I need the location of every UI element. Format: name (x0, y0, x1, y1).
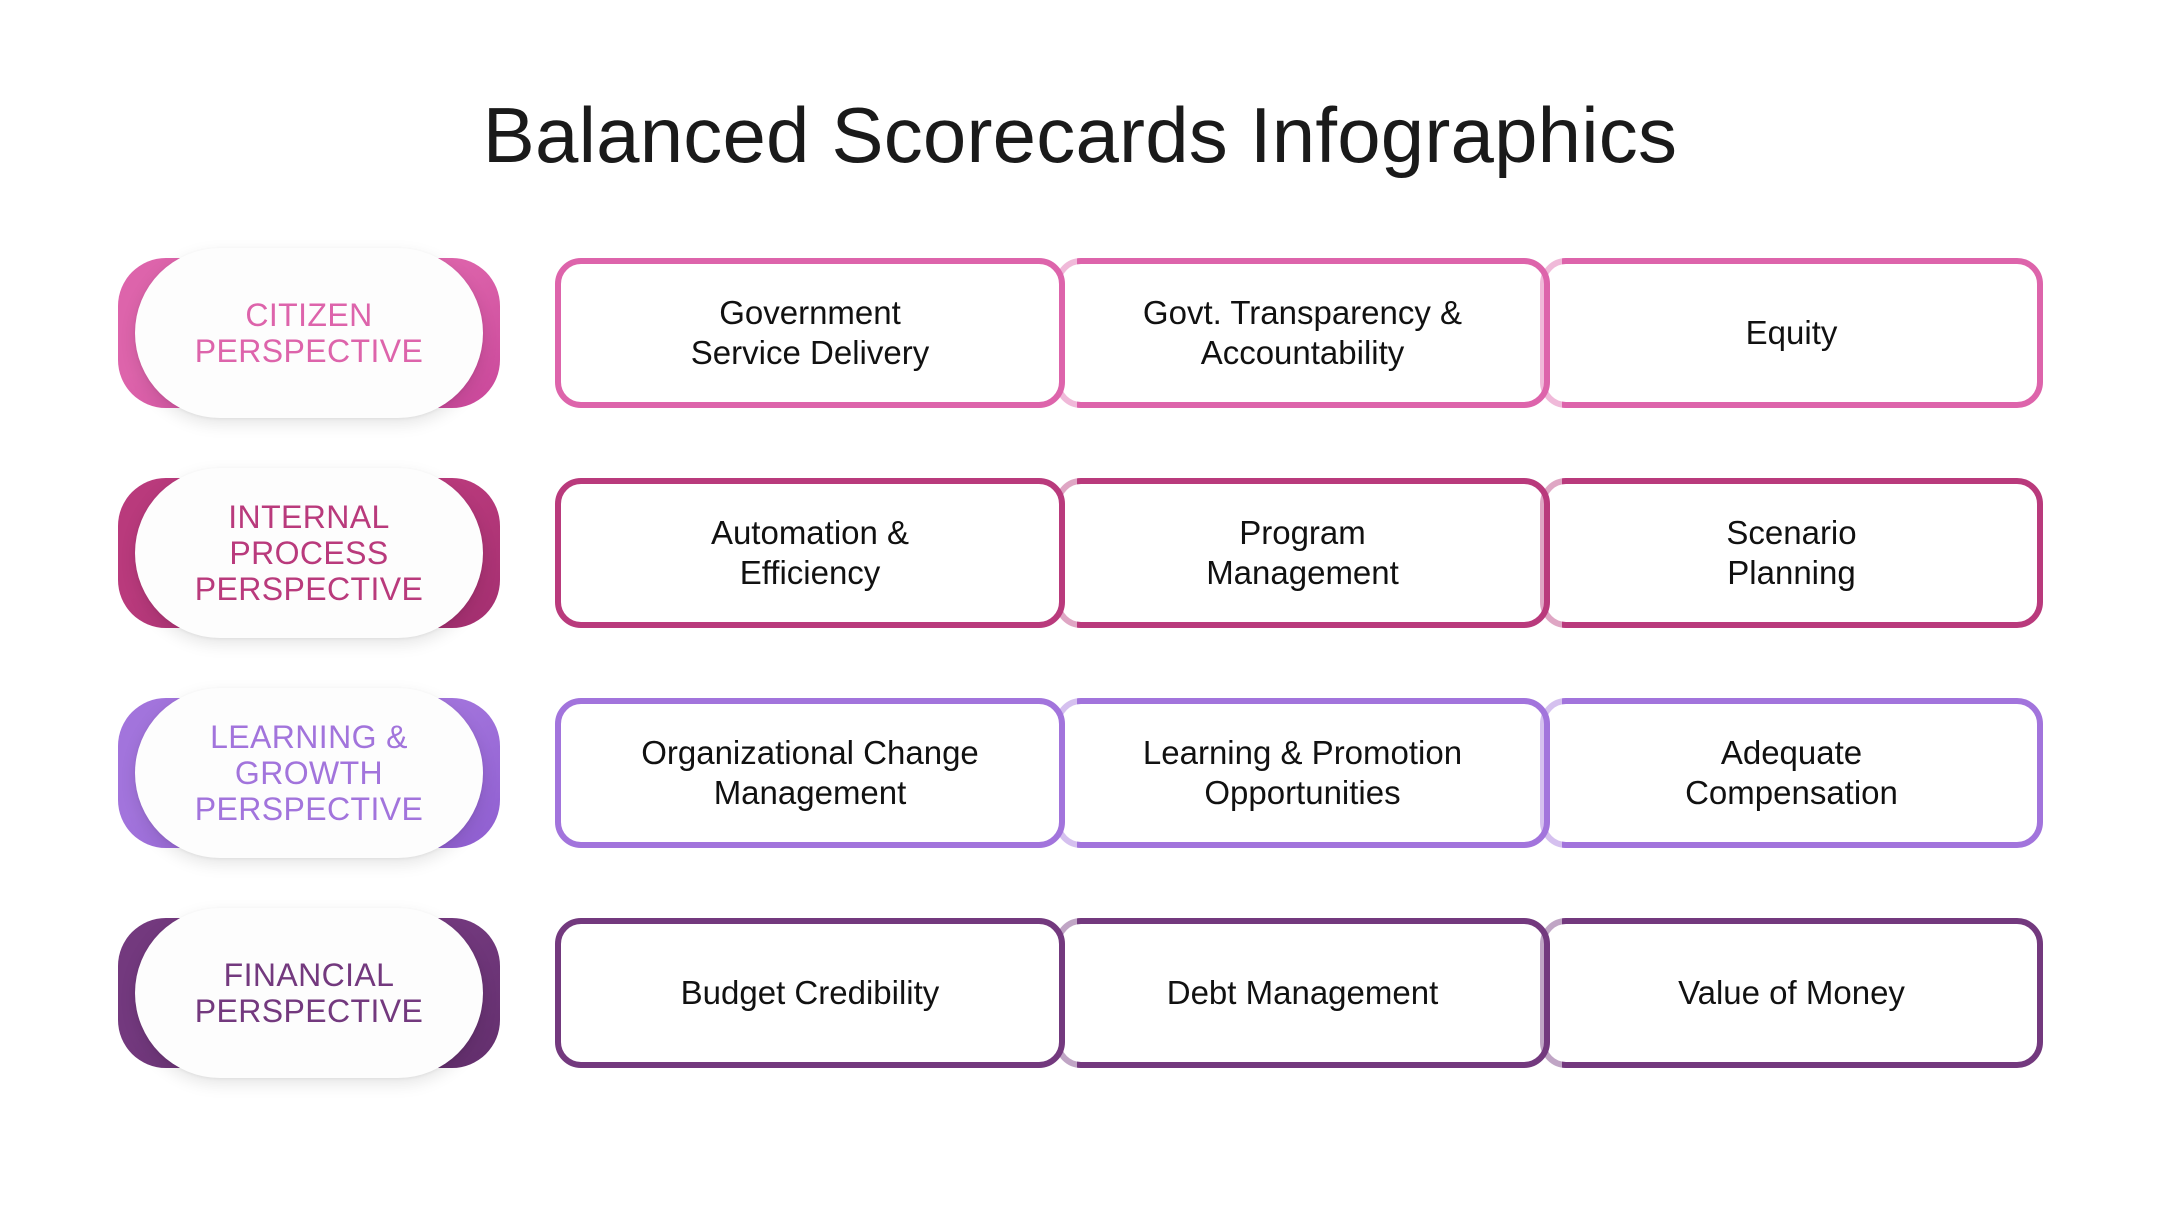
perspective-label: LEARNING & GROWTH PERSPECTIVE (189, 719, 429, 827)
pill-capsule: LEARNING & GROWTH PERSPECTIVE (135, 688, 483, 858)
scorecard-row: LEARNING & GROWTH PERSPECTIVE Organizati… (0, 698, 2160, 848)
scorecard-item-label: Learning & Promotion Opportunities (1129, 733, 1476, 814)
perspective-pill-learning-growth[interactable]: LEARNING & GROWTH PERSPECTIVE (118, 698, 500, 848)
scorecard-item-label: Govt. Transparency & Accountability (1129, 293, 1476, 374)
scorecard-item[interactable]: Scenario Planning (1540, 478, 2043, 628)
page-title: Balanced Scorecards Infographics (0, 96, 2160, 174)
scorecard-item[interactable]: Equity (1540, 258, 2043, 408)
scorecard-row: FINANCIAL PERSPECTIVE Budget Credibility… (0, 918, 2160, 1068)
scorecard-row: INTERNAL PROCESS PERSPECTIVE Automation … (0, 478, 2160, 628)
scorecard-item-label: Program Management (1192, 513, 1413, 594)
scorecard-item-label: Scenario Planning (1712, 513, 1870, 594)
scorecard-item[interactable]: Budget Credibility (555, 918, 1065, 1068)
scorecard-item[interactable]: Govt. Transparency & Accountability (1055, 258, 1550, 408)
scorecard-item-label: Budget Credibility (667, 973, 954, 1013)
perspective-pill-citizen[interactable]: CITIZEN PERSPECTIVE (118, 258, 500, 408)
scorecard-item-label: Government Service Delivery (677, 293, 943, 374)
scorecard-item-label: Debt Management (1153, 973, 1453, 1013)
scorecard-item[interactable]: Government Service Delivery (555, 258, 1065, 408)
scorecard-item-label: Equity (1732, 313, 1852, 353)
scorecard-item[interactable]: Organizational Change Management (555, 698, 1065, 848)
scorecard-item[interactable]: Adequate Compensation (1540, 698, 2043, 848)
perspective-pill-internal-process[interactable]: INTERNAL PROCESS PERSPECTIVE (118, 478, 500, 628)
perspective-label: CITIZEN PERSPECTIVE (189, 297, 429, 369)
scorecard-item-label: Automation & Efficiency (697, 513, 923, 594)
pill-capsule: CITIZEN PERSPECTIVE (135, 248, 483, 418)
scorecard-item[interactable]: Automation & Efficiency (555, 478, 1065, 628)
perspective-pill-financial[interactable]: FINANCIAL PERSPECTIVE (118, 918, 500, 1068)
pill-capsule: FINANCIAL PERSPECTIVE (135, 908, 483, 1078)
perspective-label: FINANCIAL PERSPECTIVE (189, 957, 429, 1029)
pill-capsule: INTERNAL PROCESS PERSPECTIVE (135, 468, 483, 638)
scorecard-item[interactable]: Debt Management (1055, 918, 1550, 1068)
infographic-canvas: Balanced Scorecards Infographics CITIZEN… (0, 0, 2160, 1215)
scorecard-item[interactable]: Program Management (1055, 478, 1550, 628)
scorecard-item-label: Value of Money (1664, 973, 1919, 1013)
scorecard-row: CITIZEN PERSPECTIVE Government Service D… (0, 258, 2160, 408)
scorecard-item-label: Adequate Compensation (1671, 733, 1912, 814)
scorecard-item-label: Organizational Change Management (627, 733, 993, 814)
scorecard-item[interactable]: Value of Money (1540, 918, 2043, 1068)
perspective-label: INTERNAL PROCESS PERSPECTIVE (189, 499, 429, 607)
scorecard-item[interactable]: Learning & Promotion Opportunities (1055, 698, 1550, 848)
